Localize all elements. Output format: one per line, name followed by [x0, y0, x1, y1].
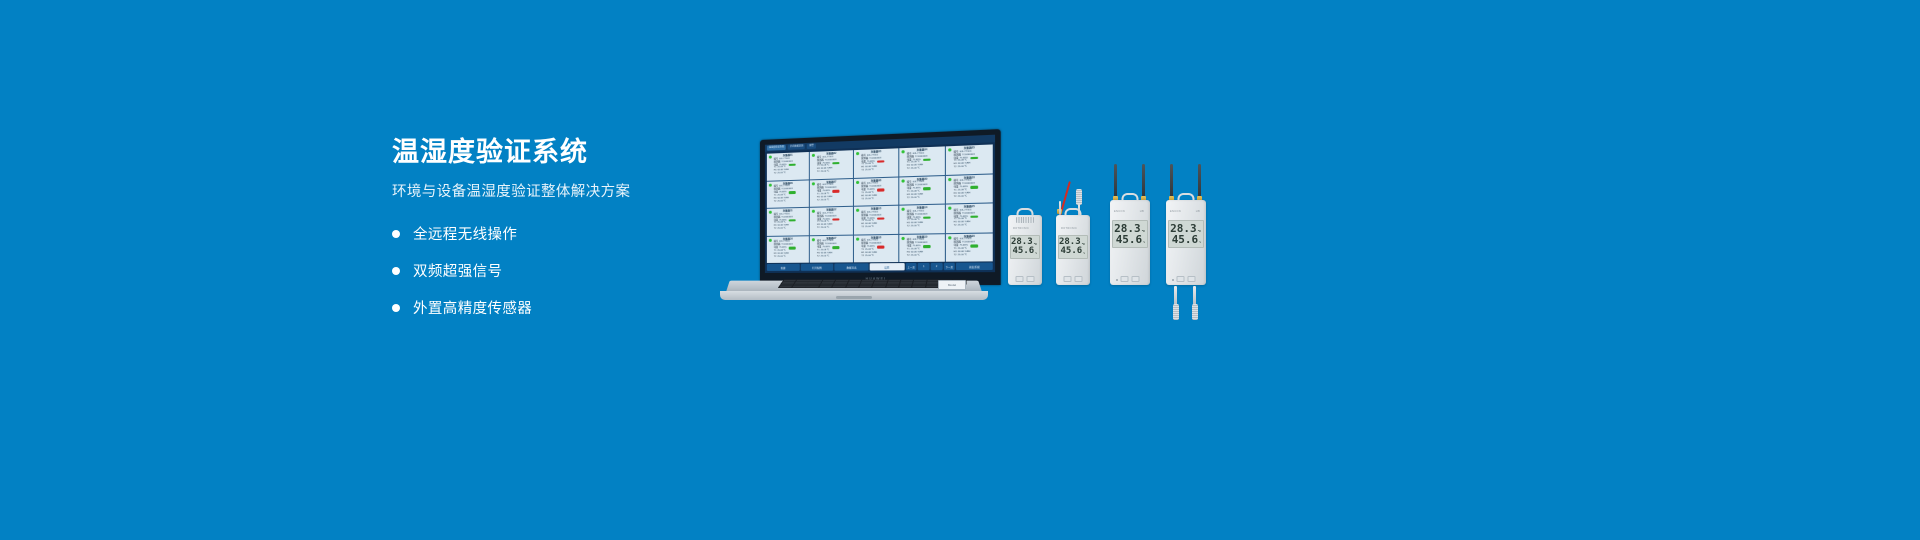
device-body: ROTRONIC 28.3 ℃ 45.6 % — [1008, 215, 1042, 285]
sensor-status-pill — [923, 245, 931, 247]
lcd-humidity-unit: % — [1143, 241, 1145, 245]
device-group: ROTRONIC 28.3 ℃ 45.6 % — [1000, 180, 1250, 310]
sensor-status-pill — [832, 218, 839, 220]
sensor-card[interactable]: 采集器14编号001-TT001探测器TC0000003电量75.68%T125… — [899, 205, 945, 234]
device-button[interactable] — [1132, 276, 1140, 282]
device-brand-label: ROTRONIC — [1013, 227, 1029, 230]
probe-filter-cap — [1192, 304, 1198, 320]
sensor-status-dot-icon — [901, 236, 904, 239]
sensor-card-field: T225.00 ℃ — [774, 199, 808, 203]
sensor-status-pill — [970, 157, 978, 160]
lcd-humidity-line: 45.6 % — [1061, 247, 1085, 256]
lcd-humidity-unit: % — [1035, 252, 1037, 256]
keyboard-key[interactable] — [806, 286, 819, 287]
keyboard-key[interactable] — [859, 286, 872, 287]
antenna-icon — [1170, 164, 1173, 198]
sensor-card-field: T225.00 ℃ — [817, 170, 852, 174]
tab-alarm[interactable]: 报警 — [807, 144, 815, 149]
bullet-dot-icon — [392, 230, 400, 238]
page-subtitle: 环境与设备温湿度验证整体解决方案 — [392, 184, 722, 201]
sensor-status-dot-icon — [901, 208, 904, 211]
device-buttons[interactable] — [1064, 276, 1083, 282]
sensor-card-fields: 编号001-TT001探测器TC0000003电量75.68%T125.08 ℃… — [947, 179, 992, 199]
sensor-field-value: 25.00 ℃ — [911, 197, 920, 200]
exit-button[interactable]: 退出系统 — [956, 262, 993, 270]
sensor-status-pill — [832, 162, 839, 165]
sensor-card-field: T225.00 ℃ — [954, 254, 992, 257]
probe-filter-cap — [1173, 304, 1179, 320]
lcd-humidity-line: 45.6 % — [1013, 247, 1037, 256]
feature-item: 全远程无线操作 — [392, 223, 722, 244]
keyboard-key[interactable] — [926, 286, 939, 287]
sensor-field-label: T2 — [861, 255, 864, 258]
lcd-humidity-unit: % — [1083, 252, 1085, 256]
sensor-field-value: 25.00 ℃ — [958, 254, 967, 257]
keyboard-key[interactable] — [819, 286, 832, 287]
sensor-card-field: T225.00 ℃ — [817, 198, 852, 202]
sensor-status-dot-icon — [768, 156, 771, 159]
device-button[interactable] — [1188, 276, 1196, 282]
page-title: 温湿度验证系统 — [392, 138, 722, 168]
sensor-field-label: T2 — [954, 225, 957, 228]
probe-filter-cap — [1076, 189, 1082, 205]
wireless-sensor-left: ENCON HB 28.3 ℃ 45.6 % — [1110, 200, 1150, 285]
open-config-button[interactable]: 打开配置 — [800, 264, 833, 271]
sensor-status-dot-icon — [901, 179, 904, 182]
sensor-field-value: 25.00 ℃ — [821, 227, 830, 230]
sensor-field-value: 25.00 ℃ — [821, 255, 830, 258]
page-prev-button[interactable]: 上一页 — [905, 263, 917, 270]
sensor-card-field: T225.00 ℃ — [774, 172, 808, 176]
sensor-card[interactable]: 采集器18编号001-TT001探测器TC0000003电量75.68%T125… — [854, 234, 898, 262]
device-button[interactable] — [1027, 276, 1035, 282]
laptop-illustration: 温湿度验证系统 历史数据查询 报警 采集器01编号001-TT001探测器TC0… — [720, 140, 988, 300]
sensor-status-pill — [923, 216, 931, 218]
laptop-screen: 温湿度验证系统 历史数据查询 报警 采集器01编号001-TT001探测器TC0… — [765, 135, 995, 273]
sensor-field-label: T2 — [954, 166, 957, 169]
antenna-icon — [1142, 164, 1145, 198]
antenna-icon — [1114, 164, 1117, 198]
sensor-card[interactable]: 采集器17编号001-TT001探测器TC0000003电量75.68%T125… — [810, 235, 853, 263]
sensor-field-label: T2 — [907, 254, 910, 257]
feature-item: 外置高精度传感器 — [392, 297, 722, 318]
laptop-base: Model — [720, 274, 988, 300]
sensor-status-pill — [789, 247, 796, 249]
device-body: ENCON HB 28.3 ℃ 45.6 % — [1166, 200, 1206, 285]
feature-label: 全远程无线操作 — [413, 223, 517, 244]
sensor-card-field: T225.00 ℃ — [954, 224, 992, 228]
keyboard-key[interactable] — [899, 286, 912, 287]
sensor-status-dot-icon — [768, 183, 771, 186]
sensor-status-pill — [877, 217, 884, 219]
sensor-card-field: T225.00 ℃ — [907, 167, 944, 171]
sensor-field-label: T2 — [817, 227, 820, 230]
sensor-card[interactable]: 采集器13编号001-TT001探测器TC0000003电量75.68%T125… — [854, 206, 898, 234]
sensor-field-value: 25.00 ℃ — [777, 172, 786, 175]
device-brand-right-label: HB — [1196, 210, 1200, 213]
vent-grille-icon — [1016, 217, 1034, 223]
sensor-card[interactable]: 采集器05编号001-TT001探测器TC0000003电量75.68%T125… — [946, 144, 993, 174]
sensor-status-pill — [970, 245, 978, 247]
sensor-field-label: T2 — [907, 226, 910, 229]
device-body: ROTRONIC 28.3 ℃ 45.6 % — [1056, 215, 1090, 285]
page-1-button[interactable]: 1 — [918, 263, 930, 270]
sensor-field-label: T2 — [774, 200, 777, 203]
sensor-status-dot-icon — [901, 150, 904, 153]
device-brand-left-label: ENCON — [1114, 210, 1125, 213]
sensor-field-label: T2 — [774, 256, 777, 259]
data-logger-small: ROTRONIC 28.3 ℃ 45.6 % — [1008, 215, 1042, 285]
sensor-card-field: T225.00 ℃ — [907, 254, 944, 257]
sensor-card[interactable]: 采集器12编号001-TT001探测器TC0000003电量75.68%T125… — [810, 207, 853, 235]
sensor-status-dot-icon — [856, 180, 859, 183]
sensor-status-dot-icon — [856, 152, 859, 155]
sensor-status-dot-icon — [768, 238, 771, 241]
sensor-status-pill — [970, 186, 978, 189]
sensor-field-value: 25.00 ℃ — [821, 199, 830, 202]
device-lcd: 28.3 ℃ 45.6 % — [1168, 220, 1204, 248]
sensor-field-label: T2 — [861, 198, 864, 201]
status-led-icon — [1116, 279, 1118, 281]
device-button[interactable] — [1121, 276, 1129, 282]
sensor-status-dot-icon — [768, 211, 771, 214]
sensor-status-pill — [970, 215, 978, 217]
sensor-card[interactable]: 采集器09编号001-TT001探测器TC0000003电量75.68%T125… — [899, 176, 945, 205]
lcd-humidity-line: 45.6 % — [1171, 234, 1201, 245]
sensor-card-field: T225.00 ℃ — [817, 255, 852, 258]
sensor-card-fields: 编号001-TT001探测器TC0000003电量75.68%T125.08 ℃… — [811, 183, 852, 202]
sensor-card-field: T225.00 ℃ — [774, 255, 808, 258]
device-buttons[interactable] — [1016, 276, 1035, 282]
sensor-status-pill — [923, 158, 931, 161]
sensor-field-value: 25.00 ℃ — [911, 254, 920, 257]
sensor-card-field: T225.00 ℃ — [954, 195, 992, 199]
sensor-field-label: T2 — [817, 255, 820, 258]
device-buttons[interactable] — [1121, 276, 1140, 282]
sensor-field-value: 25.00 ℃ — [865, 198, 874, 201]
device-buttons[interactable] — [1177, 276, 1196, 282]
wireless-sensor-right: ENCON HB 28.3 ℃ 45.6 % — [1166, 200, 1206, 285]
device-lcd: 28.3 ℃ 45.6 % — [1058, 235, 1088, 259]
sensor-card[interactable]: 采集器07编号001-TT001探测器TC0000003电量75.68%T125… — [810, 178, 853, 206]
sensor-card-fields: 编号001-TT001探测器TC0000003电量75.68%T125.08 ℃… — [900, 210, 943, 229]
sensor-status-dot-icon — [811, 210, 814, 213]
sensor-card[interactable]: 采集器10编号001-TT001探测器TC0000003电量75.68%T125… — [946, 174, 993, 204]
device-button[interactable] — [1075, 276, 1083, 282]
lcd-humidity-value: 45.6 — [1116, 234, 1143, 245]
sensor-card-fields: 编号001-TT001探测器TC0000003电量75.68%T125.08 ℃… — [768, 213, 808, 231]
sensor-card-field: T225.00 ℃ — [861, 197, 897, 201]
device-lcd: 28.3 ℃ 45.6 % — [1010, 235, 1040, 259]
sensor-card-field: T225.00 ℃ — [861, 254, 897, 257]
sensor-field-value: 25.00 ℃ — [865, 255, 874, 258]
tab-monitoring[interactable]: 温湿度验证系统 — [767, 145, 786, 151]
sensor-card[interactable]: 采集器11编号001-TT001探测器TC0000003电量75.68%T125… — [767, 208, 809, 236]
device-body: ENCON HB 28.3 ℃ 45.6 % — [1110, 200, 1150, 285]
sensor-card[interactable]: 采集器01编号001-TT001探测器TC0000003电量75.68%T125… — [767, 152, 809, 180]
sensor-status-pill — [832, 246, 839, 248]
sensor-card-fields: 编号001-TT001探测器TC0000003电量75.68%T125.08 ℃… — [855, 182, 897, 201]
new-button[interactable]: 新建 — [767, 264, 800, 271]
keyboard-key[interactable] — [792, 286, 805, 287]
device-button[interactable] — [1016, 276, 1024, 282]
bullet-dot-icon — [392, 267, 400, 275]
sensor-card-fields: 编号001-TT001探测器TC0000003电量75.68%T125.08 ℃… — [768, 185, 808, 204]
sensor-card[interactable]: 采集器02编号001-TT001探测器TC0000003电量75.68%T125… — [810, 150, 853, 179]
keyboard-key[interactable] — [832, 286, 845, 287]
sensor-field-value: 25.00 ℃ — [958, 195, 967, 198]
device-button[interactable] — [1064, 276, 1072, 282]
lcd-humidity-value: 45.6 — [1013, 247, 1035, 256]
sensor-status-dot-icon — [948, 236, 951, 239]
sensor-field-value: 25.00 ℃ — [958, 225, 967, 228]
sensor-card[interactable]: 采集器06编号001-TT001探测器TC0000003电量75.68%T125… — [767, 180, 809, 208]
sensor-field-label: T2 — [861, 226, 864, 229]
sensor-card-fields: 编号001-TT001探测器TC0000003电量75.68%T125.08 ℃… — [768, 241, 808, 259]
export-data-button[interactable]: 数据导出 — [835, 263, 869, 270]
page-next-button[interactable]: 下一页 — [943, 263, 955, 270]
page-2-button[interactable]: 2 — [931, 263, 943, 270]
sensor-card-field: T225.00 ℃ — [954, 165, 992, 169]
sensor-card-fields: 编号001-TT001探测器TC0000003电量75.68%T125.08 ℃… — [768, 157, 808, 176]
sensor-card-field: T225.00 ℃ — [861, 168, 897, 172]
lcd-humidity-value: 45.6 — [1061, 247, 1083, 256]
sensor-status-pill — [877, 189, 884, 191]
sensor-status-dot-icon — [948, 148, 951, 151]
sensor-card-fields: 编号001-TT001探测器TC0000003电量75.68%T125.08 ℃… — [947, 209, 992, 228]
sensor-field-label: T2 — [954, 196, 957, 199]
sensor-card-field: T225.00 ℃ — [817, 227, 852, 231]
probe-stem — [1193, 286, 1196, 306]
sensor-status-dot-icon — [811, 154, 814, 157]
hero-banner: 温湿度验证系统 环境与设备温湿度验证整体解决方案 全远程无线操作 双频超强信号 … — [0, 0, 1920, 540]
feature-label: 外置高精度传感器 — [413, 297, 532, 318]
sensor-field-value: 25.00 ℃ — [865, 226, 874, 229]
probe-stem — [1059, 201, 1061, 215]
sensor-status-pill — [789, 219, 796, 221]
sensor-card-field: T225.00 ℃ — [774, 227, 808, 231]
sensor-status-dot-icon — [811, 238, 814, 241]
feature-item: 双频超强信号 — [392, 260, 722, 281]
hero-text-block: 温湿度验证系统 环境与设备温湿度验证整体解决方案 全远程无线操作 双频超强信号 … — [392, 138, 722, 334]
laptop-sticker-label: Model — [948, 283, 956, 287]
feature-list: 全远程无线操作 双频超强信号 外置高精度传感器 — [392, 223, 722, 318]
sensor-status-pill — [832, 190, 839, 192]
device-lcd: 28.3 ℃ 45.6 % — [1112, 220, 1148, 248]
sensor-status-pill — [789, 164, 796, 166]
sensor-status-dot-icon — [948, 207, 951, 210]
lcd-humidity-unit: % — [1199, 241, 1201, 245]
sensor-field-value: 25.00 ℃ — [821, 171, 830, 174]
device-brand-left-label: ENCON — [1170, 210, 1181, 213]
sensor-card-fields: 编号001-TT001探测器TC0000003电量75.68%T125.08 ℃… — [947, 238, 992, 257]
sensor-field-label: T2 — [861, 170, 864, 173]
settings-button[interactable]: 设置 — [870, 263, 905, 270]
device-brand-right-label: HB — [1140, 210, 1144, 213]
antenna-icon — [1198, 164, 1201, 198]
keyboard-key[interactable] — [886, 286, 899, 287]
sensor-card-field: T225.00 ℃ — [907, 196, 944, 200]
sensor-card-fields: 编号001-TT001探测器TC0000003电量75.68%T125.08 ℃… — [855, 211, 897, 230]
sensor-card-fields: 编号001-TT001探测器TC0000003电量75.68%T125.08 ℃… — [947, 150, 992, 170]
device-brand-label: ROTRONIC — [1061, 227, 1077, 230]
sensor-field-value: 25.00 ℃ — [958, 166, 967, 169]
sensor-card[interactable]: 采集器20编号001-TT001探测器TC0000003电量75.68%T125… — [946, 233, 993, 262]
pagination: 上一页 1 2 下一页 — [905, 263, 955, 271]
sensor-card-fields: 编号001-TT001探测器TC0000003电量75.68%T125.08 ℃… — [855, 239, 897, 258]
sensor-field-label: T2 — [954, 254, 957, 257]
sensor-status-dot-icon — [948, 177, 951, 180]
sensor-card-fields: 编号001-TT001探测器TC0000003电量75.68%T125.08 ℃… — [811, 212, 852, 231]
keyboard-key[interactable] — [912, 286, 925, 287]
sensor-field-label: T2 — [817, 171, 820, 174]
app-button-bar: 新建 打开配置 数据导出 设置 上一页 1 2 下一页 退出系统 — [767, 262, 993, 271]
sensor-card-fields: 编号001-TT001探测器TC0000003电量75.68%T125.08 ℃… — [900, 181, 943, 201]
lcd-humidity-value: 45.6 — [1172, 234, 1199, 245]
probe-stem — [1174, 286, 1177, 306]
keyboard-key[interactable] — [779, 286, 792, 287]
sensor-card[interactable]: 采集器19编号001-TT001探测器TC0000003电量75.68%T125… — [899, 234, 945, 262]
sensor-field-label: T2 — [774, 173, 777, 176]
sensor-card-fields: 编号001-TT001探测器TC0000003电量75.68%T125.08 ℃… — [855, 153, 897, 173]
sensor-field-value: 25.00 ℃ — [865, 169, 874, 172]
sensor-status-pill — [877, 160, 884, 163]
sensor-field-value: 25.00 ℃ — [777, 200, 786, 203]
sensor-card-fields: 编号001-TT001探测器TC0000003电量75.68%T125.08 ℃… — [900, 151, 943, 171]
sensor-field-label: T2 — [907, 197, 910, 200]
sensor-card[interactable]: 采集器15编号001-TT001探测器TC0000003电量75.68%T125… — [946, 203, 993, 232]
sensor-status-dot-icon — [856, 209, 859, 212]
lcd-humidity-line: 45.6 % — [1115, 234, 1145, 245]
sensor-field-value: 25.00 ℃ — [911, 225, 920, 228]
sensor-field-value: 25.00 ℃ — [777, 228, 786, 231]
keyboard-key[interactable] — [872, 286, 885, 287]
sensor-status-pill — [789, 191, 796, 193]
sensor-card-fields: 编号001-TT001探测器TC0000003电量75.68%T125.08 ℃… — [811, 155, 852, 174]
sensor-card-fields: 编号001-TT001探测器TC0000003电量75.68%T125.08 ℃… — [811, 240, 852, 258]
sensor-field-value: 25.00 ℃ — [911, 168, 920, 171]
sensor-card-fields: 编号001-TT001探测器TC0000003电量75.68%T125.08 ℃… — [900, 239, 943, 258]
sensor-field-value: 25.00 ℃ — [777, 255, 786, 258]
sensor-field-label: T2 — [817, 199, 820, 202]
sensor-status-dot-icon — [811, 182, 814, 185]
data-logger-probe: ROTRONIC 28.3 ℃ 45.6 % — [1056, 215, 1090, 285]
sensor-card[interactable]: 采集器04编号001-TT001探测器TC0000003电量75.68%T125… — [899, 146, 945, 176]
sensor-card[interactable]: 采集器03编号001-TT001探测器TC0000003电量75.68%T125… — [854, 148, 898, 177]
sensor-field-label: T2 — [907, 168, 910, 171]
sensor-card-grid: 采集器01编号001-TT001探测器TC0000003电量75.68%T125… — [767, 144, 993, 263]
sensor-field-label: T2 — [774, 228, 777, 231]
laptop-lid: 温湿度验证系统 历史数据查询 报警 采集器01编号001-TT001探测器TC0… — [760, 129, 1001, 285]
sensor-status-pill — [923, 187, 931, 190]
sensor-status-dot-icon — [856, 237, 859, 240]
sensor-card-field: T225.00 ℃ — [861, 226, 897, 230]
feature-label: 双频超强信号 — [413, 260, 502, 281]
bullet-dot-icon — [392, 304, 400, 312]
sensor-card[interactable]: 采集器16编号001-TT001探测器TC0000003电量75.68%T125… — [767, 236, 809, 263]
laptop-base-notch — [836, 296, 872, 299]
keyboard-key[interactable] — [846, 286, 859, 287]
status-led-icon — [1172, 279, 1174, 281]
device-button[interactable] — [1177, 276, 1185, 282]
tab-history[interactable]: 历史数据查询 — [788, 144, 805, 150]
laptop-sticker: Model — [938, 280, 966, 290]
sensor-card-field: T225.00 ℃ — [907, 225, 944, 229]
sensor-status-pill — [877, 246, 884, 248]
sensor-card[interactable]: 采集器08编号001-TT001探测器TC0000003电量75.68%T125… — [854, 177, 898, 206]
